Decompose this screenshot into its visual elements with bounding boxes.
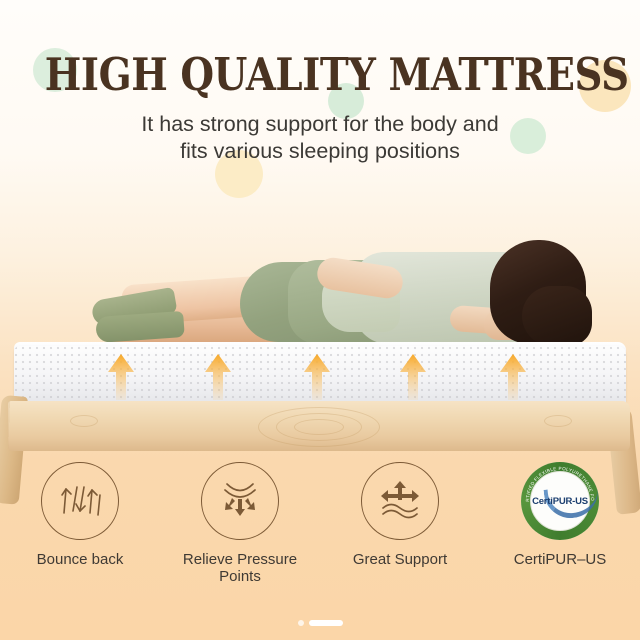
woman-lying-figure (92, 240, 562, 352)
page-title: HIGH QUALITY MATTRESS (45, 0, 595, 97)
badge-center-text: CertiPUR-US (532, 496, 588, 507)
support-arrow-row (0, 346, 640, 408)
hero-scene (0, 196, 640, 436)
feature-label-line-2: Points (219, 568, 261, 585)
wood-grain (70, 415, 98, 427)
feature-row: Bounce back Relieve PressurePoints (0, 462, 640, 602)
wood-grain (544, 415, 572, 427)
upward-support-arrow (398, 352, 428, 402)
pagination-dot[interactable] (298, 620, 304, 626)
pagination-dot-active[interactable] (309, 620, 343, 626)
feature-relieve-pressure[interactable]: Relieve PressurePoints (160, 462, 320, 602)
wood-grain (294, 419, 344, 435)
great-support-icon (361, 462, 439, 540)
subtitle-line-2: fits various sleeping positions (180, 139, 460, 163)
upward-support-arrow (203, 352, 233, 402)
subtitle: It has strong support for the body and f… (0, 97, 640, 165)
header-block: HIGH QUALITY MATTRESS It has strong supp… (0, 0, 640, 165)
feature-label: Relieve PressurePoints (183, 551, 297, 586)
relieve-pressure-icon (201, 462, 279, 540)
certipur-badge-icon: CERTIFIED FLEXIBLE POLYURETHANE FOAM WWW… (521, 462, 599, 540)
bed-frame-rail (8, 401, 630, 451)
feature-bounce-back[interactable]: Bounce back (0, 462, 160, 602)
feature-label: CertiPUR–US (514, 551, 607, 568)
feature-label: Bounce back (37, 551, 124, 568)
upward-support-arrow (106, 352, 136, 402)
pagination-indicator[interactable] (0, 616, 640, 630)
feature-certipur[interactable]: CERTIFIED FLEXIBLE POLYURETHANE FOAM WWW… (480, 462, 640, 602)
bounce-back-icon (41, 462, 119, 540)
feature-great-support[interactable]: Great Support (320, 462, 480, 602)
badge-inner-disc: CertiPUR-US (530, 471, 590, 531)
product-image-slide: HIGH QUALITY MATTRESS It has strong supp… (0, 0, 640, 640)
feature-label-line-1: Relieve Pressure (183, 551, 297, 568)
subtitle-line-1: It has strong support for the body and (141, 112, 498, 136)
feature-label: Great Support (353, 551, 447, 568)
upward-support-arrow (302, 352, 332, 402)
hair-shadow (522, 286, 592, 346)
upward-support-arrow (498, 352, 528, 402)
